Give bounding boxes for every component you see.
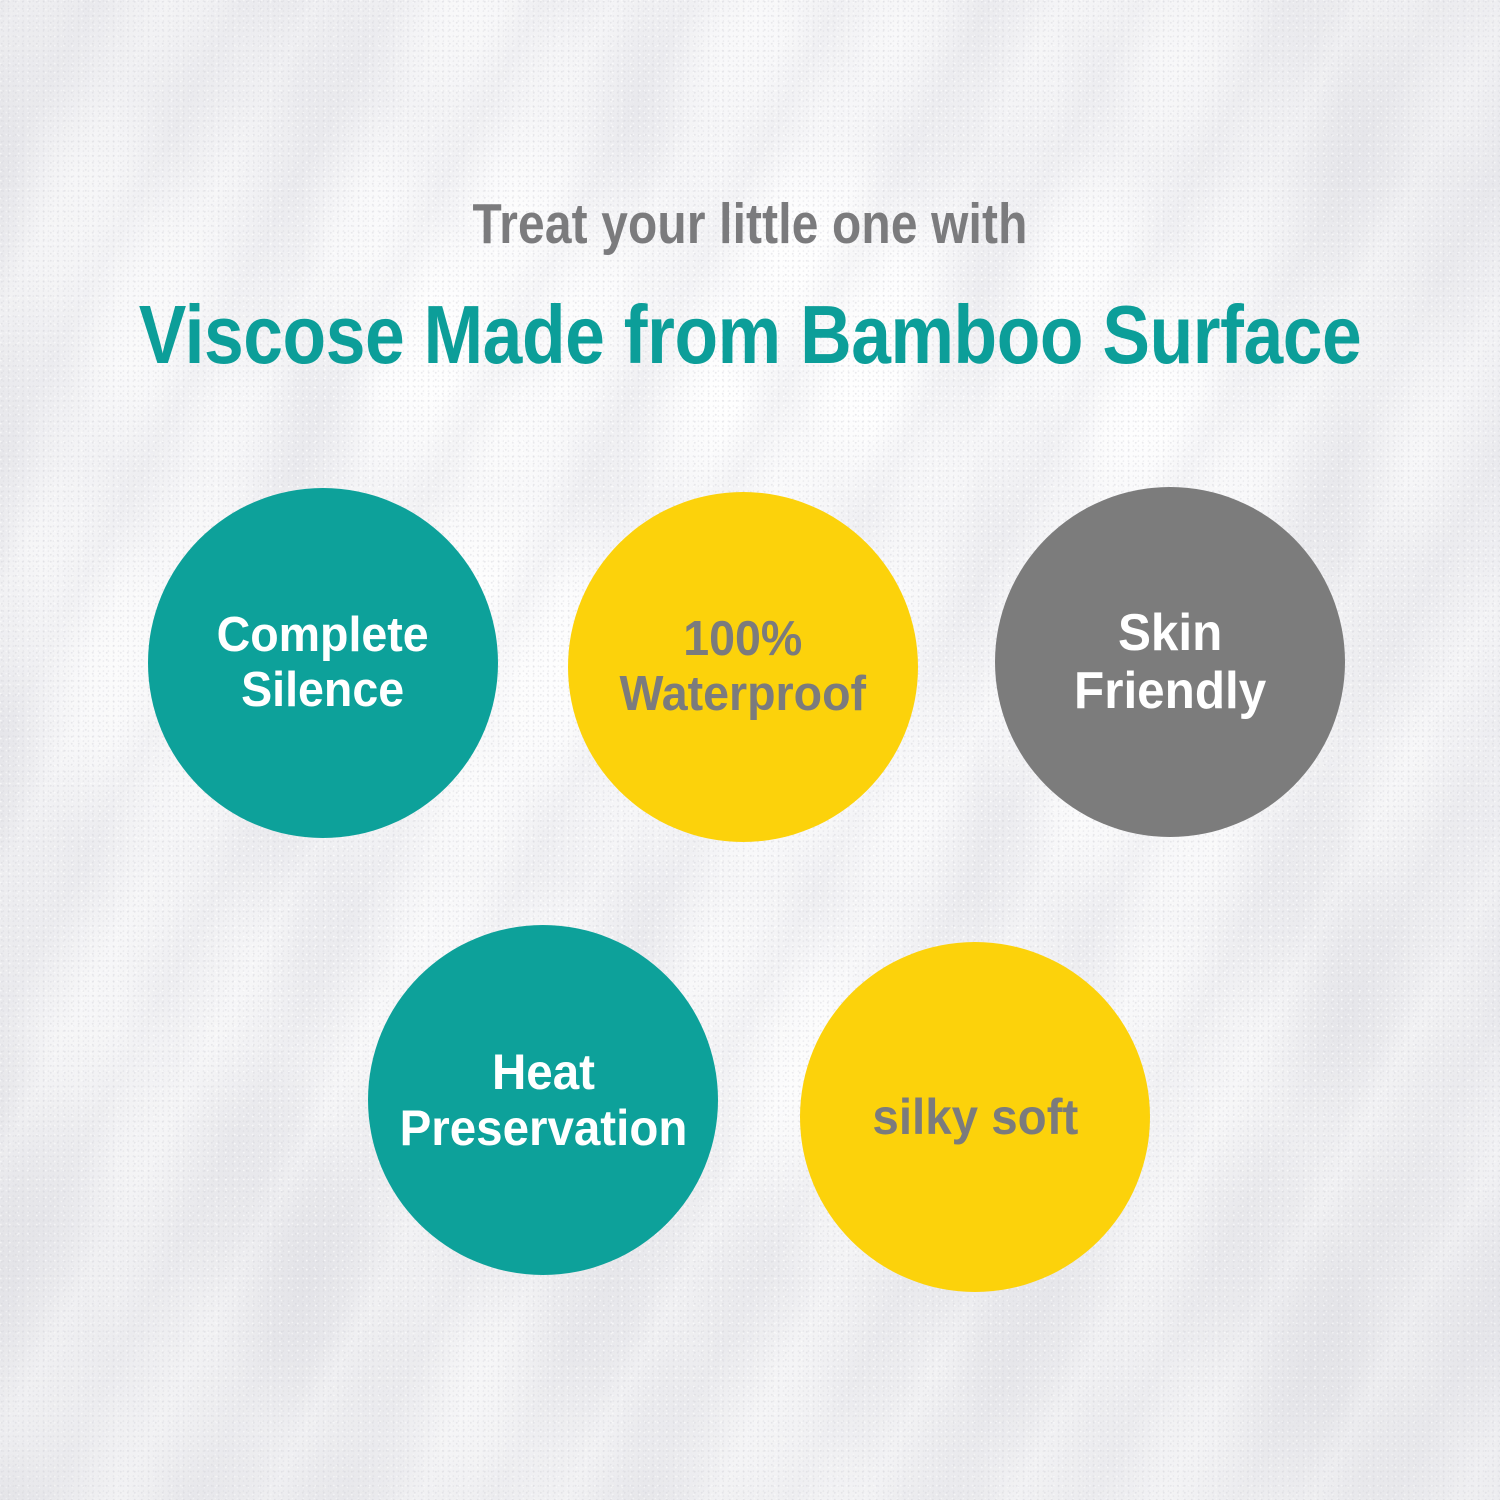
feature-circle-waterproof[interactable]: 100% Waterproof [568,492,918,842]
subtitle-text: Treat your little one with [120,196,1380,253]
product-infographic: Treat your little one with Viscose Made … [0,0,1500,1500]
feature-label-skin-friendly: Skin Friendly [1070,604,1270,720]
feature-circle-silky-soft[interactable]: silky soft [800,942,1150,1292]
headline-block: Treat your little one with Viscose Made … [0,196,1500,376]
feature-circle-skin-friendly[interactable]: Skin Friendly [995,487,1345,837]
feature-label-waterproof: 100% Waterproof [616,612,870,722]
feature-label-complete-silence: Complete Silence [213,608,433,718]
feature-circle-complete-silence[interactable]: Complete Silence [148,488,498,838]
feature-label-heat-preservation: Heat Preservation [395,1044,690,1156]
feature-label-silky-soft: silky soft [868,1089,1082,1145]
feature-circle-heat-preservation[interactable]: Heat Preservation [368,925,718,1275]
page-title: Viscose Made from Bamboo Surface [105,293,1395,376]
